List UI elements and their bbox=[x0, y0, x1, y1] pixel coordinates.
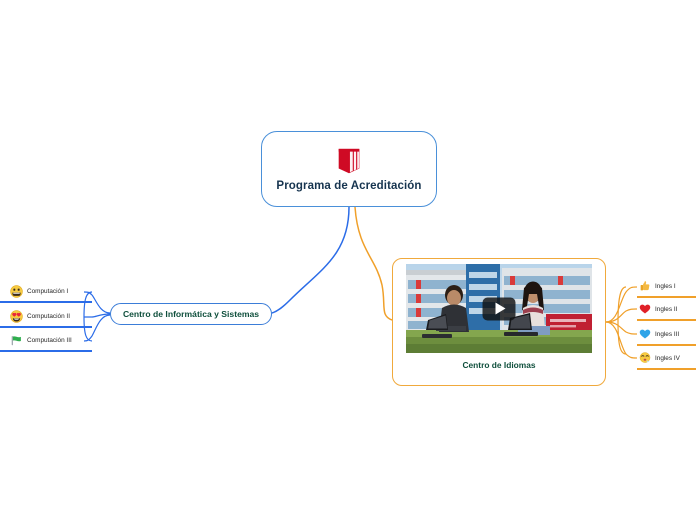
list-item-computacion-3[interactable]: Computación III bbox=[0, 330, 92, 352]
list-item-ingles-2[interactable]: Ingles II bbox=[637, 299, 696, 321]
red-heart-emoji-icon bbox=[639, 303, 651, 315]
video-thumbnail[interactable] bbox=[406, 264, 592, 353]
connector-idiomas-to-ingles-4 bbox=[606, 322, 637, 358]
list-item-ingles-4[interactable]: Ingles IV bbox=[637, 348, 696, 370]
list-item-label: Ingles III bbox=[655, 331, 679, 338]
node-centro-de-idiomas[interactable]: Centro de Idiomas bbox=[392, 258, 606, 386]
list-item-computacion-2[interactable]: Computación II bbox=[0, 306, 92, 328]
list-item-label: Computación II bbox=[27, 313, 70, 320]
blue-heart-emoji-icon bbox=[639, 328, 651, 340]
mindmap-canvas: Programa de Acreditación Centro de Infor… bbox=[0, 0, 696, 520]
root-node-label: Programa de Acreditación bbox=[276, 180, 421, 192]
thumbs-up-emoji-icon bbox=[639, 280, 651, 292]
grinning-face-emoji-icon bbox=[10, 285, 23, 298]
list-item-ingles-1[interactable]: Ingles I bbox=[637, 276, 696, 298]
play-triangle-icon bbox=[495, 303, 505, 315]
connector-idiomas-to-ingles-3 bbox=[606, 322, 637, 334]
green-flag-emoji-icon bbox=[10, 334, 23, 347]
node-label: Centro de Idiomas bbox=[462, 360, 535, 370]
list-item-label: Computación I bbox=[27, 288, 68, 295]
book-shield-logo-icon bbox=[334, 146, 364, 176]
list-item-label: Ingles II bbox=[655, 306, 677, 313]
heart-eyes-face-emoji-icon bbox=[10, 310, 23, 323]
node-label: Centro de Informática y Sistemas bbox=[123, 309, 259, 319]
connector-idiomas-to-ingles-1 bbox=[606, 287, 637, 322]
play-button[interactable] bbox=[483, 297, 516, 320]
list-item-label: Ingles I bbox=[655, 283, 676, 290]
list-item-label: Ingles IV bbox=[655, 355, 680, 362]
node-centro-de-informatica-y-sistemas[interactable]: Centro de Informática y Sistemas bbox=[110, 303, 272, 325]
list-item-label: Computación III bbox=[27, 337, 72, 344]
root-node-programa-de-acreditacion[interactable]: Programa de Acreditación bbox=[261, 131, 437, 207]
list-item-computacion-1[interactable]: Computación I bbox=[0, 281, 92, 303]
kissing-face-emoji-icon bbox=[639, 352, 651, 364]
connector-root-to-idiomas bbox=[355, 207, 392, 320]
connector-root-to-cis bbox=[272, 207, 349, 313]
list-item-ingles-3[interactable]: Ingles III bbox=[637, 324, 696, 346]
connector-right-spine bbox=[618, 287, 626, 354]
connector-idiomas-to-ingles-2 bbox=[606, 309, 637, 322]
